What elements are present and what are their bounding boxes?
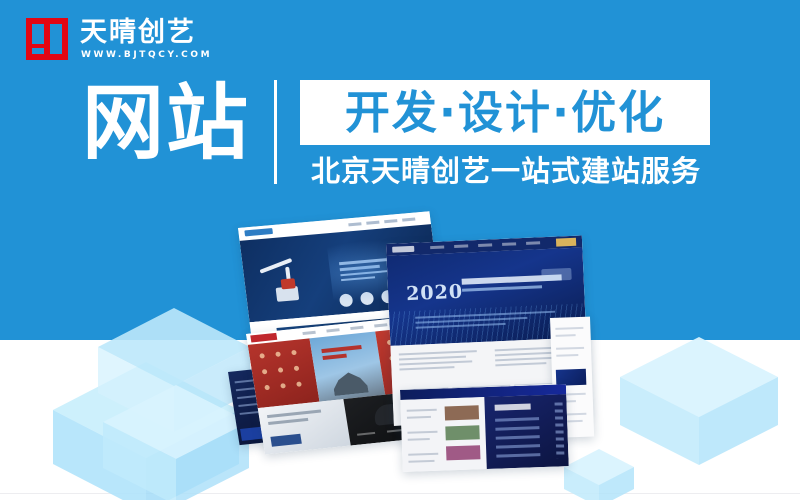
headline-divider bbox=[274, 80, 277, 184]
logo-mark-icon bbox=[26, 18, 68, 60]
logo-website-url: WWW.BJTQCY.COM bbox=[81, 49, 212, 61]
brand-logo[interactable]: 天晴创艺 WWW.BJTQCY.COM bbox=[26, 16, 236, 64]
logo-company-name: 天晴创艺 bbox=[80, 16, 196, 50]
website-mockup-collage: 2020 bbox=[228, 222, 588, 484]
headline-subtitle: 北京天晴创艺一站式建站服务 bbox=[300, 152, 712, 190]
cube-right-big bbox=[620, 337, 778, 465]
tagline-text: 开发·设计·优化 bbox=[300, 83, 710, 142]
tagline-box: 开发·设计·优化 bbox=[300, 80, 710, 145]
promo-banner: 2020 bbox=[0, 0, 800, 500]
headline-keyword: 网站 bbox=[82, 74, 250, 174]
mockup-screenshot-programme-page bbox=[400, 384, 569, 472]
